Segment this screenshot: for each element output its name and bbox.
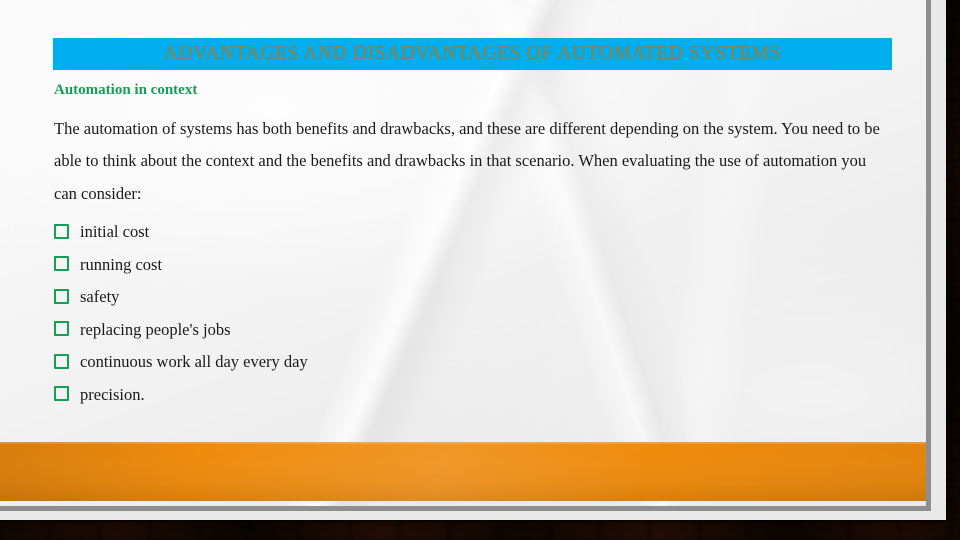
slide-title-bar: ADVANTAGES AND DISADVANTAGES OF AUTOMATE…: [53, 38, 892, 70]
list-item-label: replacing people's jobs: [80, 314, 231, 347]
list-item-label: precision.: [80, 379, 145, 412]
list-item-label: running cost: [80, 249, 162, 282]
list-item: safety: [54, 281, 894, 314]
footer-band-sheen: [0, 442, 926, 501]
slide-body: Automation in context The automation of …: [54, 82, 894, 411]
list-item-label: safety: [80, 281, 119, 314]
slide-stage: ADVANTAGES AND DISADVANTAGES OF AUTOMATE…: [0, 0, 960, 540]
list-item: initial cost: [54, 216, 894, 249]
hollow-square-bullet-icon: [54, 386, 69, 401]
bullet-list: initial cost running cost safety replaci…: [54, 216, 894, 411]
hollow-square-bullet-icon: [54, 224, 69, 239]
presentation-slide: ADVANTAGES AND DISADVANTAGES OF AUTOMATE…: [0, 0, 931, 511]
list-item: continuous work all day every day: [54, 346, 894, 379]
hollow-square-bullet-icon: [54, 289, 69, 304]
slide-title: ADVANTAGES AND DISADVANTAGES OF AUTOMATE…: [164, 44, 781, 64]
slide-paragraph: The automation of systems has both benef…: [54, 113, 884, 211]
list-item: replacing people's jobs: [54, 314, 894, 347]
list-item-label: initial cost: [80, 216, 149, 249]
hollow-square-bullet-icon: [54, 256, 69, 271]
list-item: precision.: [54, 379, 894, 412]
hollow-square-bullet-icon: [54, 321, 69, 336]
list-item: running cost: [54, 249, 894, 282]
hollow-square-bullet-icon: [54, 354, 69, 369]
list-item-label: continuous work all day every day: [80, 346, 308, 379]
slide-subheading: Automation in context: [54, 82, 894, 99]
slide-footer-band: [0, 442, 926, 501]
